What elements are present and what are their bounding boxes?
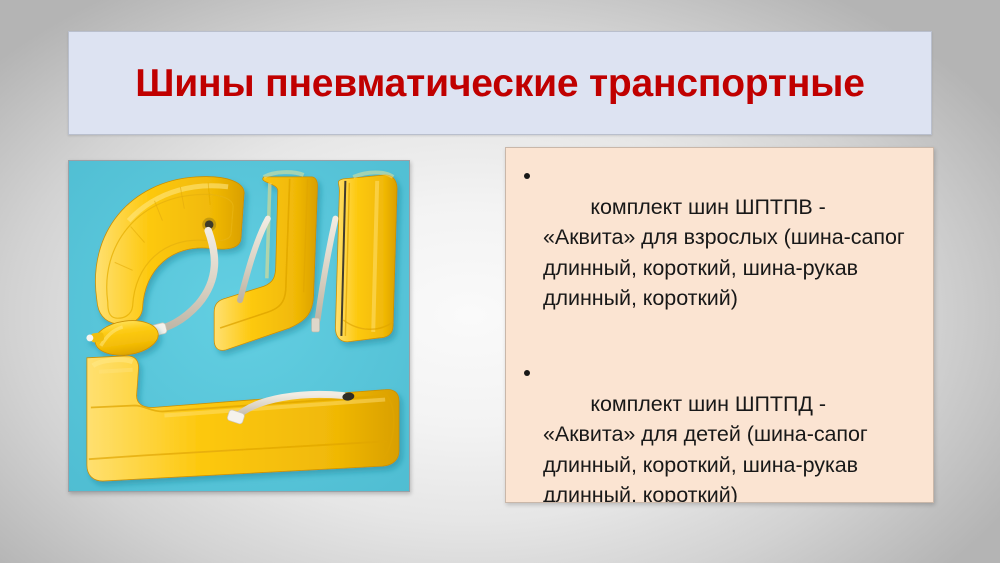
list-item: комплект шин ШПТПВ - «Аквита» для взросл… xyxy=(516,161,919,344)
list-item: комплект шин ШПТПД - «Аквита» для детей … xyxy=(516,358,919,503)
slide-title-box: Шины пневматические транспортные xyxy=(68,31,932,135)
list-item-text: комплект шин ШПТПД - «Аквита» для детей … xyxy=(543,392,874,504)
content-text-panel: комплект шин ШПТПВ - «Аквита» для взросл… xyxy=(505,147,934,503)
bullet-list: комплект шин ШПТПВ - «Аквита» для взросл… xyxy=(516,161,919,503)
bullet-dot-icon xyxy=(524,173,530,179)
presentation-slide: Шины пневматические транспортные xyxy=(0,0,1000,563)
pneumatic-splint-kit-photo xyxy=(69,161,409,491)
page-title: Шины пневматические транспортные xyxy=(135,64,865,103)
product-photo-panel xyxy=(68,160,410,492)
list-item-text: комплект шин ШПТПВ - «Аквита» для взросл… xyxy=(543,195,911,311)
bullet-dot-icon xyxy=(524,370,530,376)
